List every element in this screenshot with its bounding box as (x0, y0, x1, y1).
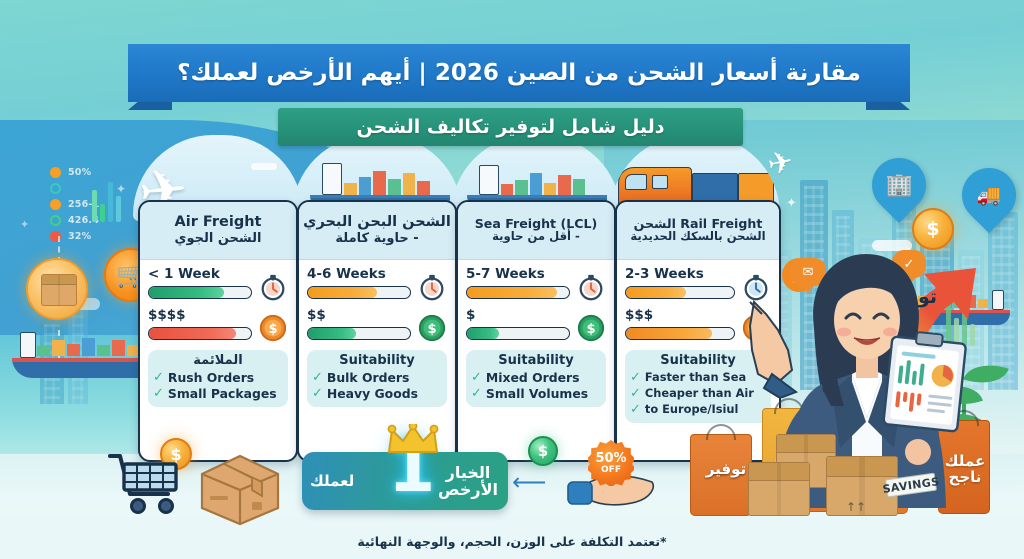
check-icon: ✓ (630, 386, 641, 402)
time-bar (307, 286, 411, 299)
suitability-item: ✓Rush Orders (153, 370, 283, 386)
discount-off-label: OFF (601, 466, 621, 475)
card-header: Rail Freight الشحن الشحن بالسكك الحديدية (617, 202, 779, 260)
suitability-item-label: Mixed Orders (486, 370, 580, 385)
suitability-item: ✓to Europe/Isiul (630, 402, 766, 418)
cost-bar (625, 327, 735, 340)
time-label: 4-6 Weeks (307, 268, 411, 282)
check-icon: ✓ (153, 370, 164, 386)
card-title-ar: - حاوية كاملة (335, 231, 418, 246)
suitability-item-label: Small Packages (168, 386, 277, 401)
dashed-connector (140, 428, 142, 450)
clipboard-chart-icon (881, 328, 969, 434)
footnote: *تعتمد التكلفة على الوزن، الحجم، والوجهة… (0, 534, 1024, 549)
card-title-en: Air Freight (175, 215, 262, 231)
card-title-ar: الشحن الجوي (175, 231, 262, 246)
card-title-ar: - أقل من حاوية (492, 230, 580, 244)
suitability-item-label: Faster than Sea (645, 371, 746, 385)
metric-cost: $ $ (466, 309, 606, 343)
stopwatch-icon (258, 272, 288, 302)
card-body: < 1 Week $ $$$$ الملائمة ✓Rush Orders (140, 260, 296, 413)
time-label: < 1 Week (148, 268, 252, 282)
suitability-item-label: Bulk Orders (327, 370, 409, 385)
stopwatch-icon (417, 272, 447, 302)
suitability-title: Suitability (312, 354, 442, 369)
card-header: Sea Freight (LCL) - أقل من حاوية (458, 202, 614, 260)
discount-percent: 50% (595, 452, 626, 465)
time-bar (625, 286, 735, 299)
suitability-item: ✓Heavy Goods (312, 386, 442, 402)
suitability-title: Suitability (471, 354, 601, 369)
metric-time: < 1 Week (148, 268, 288, 302)
infographic-canvas: 50% 256-1 426.4 32% 🛒 (0, 0, 1024, 559)
card-body: 4-6 Weeks $ $$ Suitability ✓Bulk Orders (299, 260, 455, 413)
page-title: مقارنة أسعار الشحن من الصين 2026 | أيهم … (177, 60, 861, 86)
carton-box (748, 462, 810, 516)
suitability-box: Suitability ✓Mixed Orders ✓Small Volumes (466, 350, 606, 407)
shopping-cart-icon (108, 450, 182, 514)
cost-label: $ (466, 309, 570, 323)
check-icon: ✓ (153, 386, 164, 402)
suitability-item: ✓Mixed Orders (471, 370, 601, 386)
metric-cost: $ $$$$ (148, 309, 288, 343)
time-label: 5-7 Weeks (466, 268, 570, 282)
card-air-freight[interactable]: Air Freight الشحن الجوي < 1 Week $ (138, 200, 298, 462)
page-title-banner: مقارنة أسعار الشحن من الصين 2026 | أيهم … (128, 44, 910, 102)
stopwatch-icon (576, 272, 606, 302)
check-icon: ✓ (312, 386, 323, 402)
best-choice-line1: الخيار (438, 464, 498, 481)
svg-text:$: $ (427, 322, 436, 337)
suitability-item: ✓Small Volumes (471, 386, 601, 402)
suitability-item: ✓Small Packages (153, 386, 283, 402)
cost-bar (148, 327, 252, 340)
bag-savings-mid-text: توفير (698, 460, 754, 478)
suitability-item-label: to Europe/Isiul (645, 403, 739, 417)
cost-label: $$$ (625, 309, 735, 323)
suitability-item-label: Small Volumes (486, 386, 588, 401)
cloud-icon (251, 163, 277, 170)
svg-text:$: $ (268, 322, 277, 337)
cost-label: $$ (307, 309, 411, 323)
green-coin-icon: $ (576, 313, 606, 343)
suitability-item-label: Rush Orders (168, 370, 254, 385)
metric-time: 5-7 Weeks (466, 268, 606, 302)
green-coin-icon: $ (417, 313, 447, 343)
metric-cost: $ $$ (307, 309, 447, 343)
bag-client-label: عملك ناجح (936, 454, 994, 486)
title-ribbon-group: مقارنة أسعار الشحن من الصين 2026 | أيهم … (0, 22, 1024, 127)
suitability-item: ✓Bulk Orders (312, 370, 442, 386)
card-title-en: Rail Freight الشحن (634, 217, 763, 231)
suitability-item-label: Heavy Goods (327, 386, 418, 401)
crown-icon (386, 424, 440, 460)
card-title-en: الشحن البحن البحري (303, 215, 451, 231)
check-icon: ✓ (471, 386, 482, 402)
best-choice-line2: الأرخص (438, 481, 498, 498)
suitability-title: الملائمة (153, 354, 283, 369)
page-subtitle: دليل شامل لتوفير تكاليف الشحن (356, 116, 664, 138)
orange-coin-icon: $ (258, 313, 288, 343)
dashed-connector (244, 426, 246, 450)
fragile-arrows-icon: ↑↑ (846, 500, 866, 514)
time-bar (466, 286, 570, 299)
metric-time: 4-6 Weeks (307, 268, 447, 302)
cost-bar (307, 327, 411, 340)
check-icon: ✓ (630, 370, 641, 386)
card-header: الشحن البحن البحري - حاوية كاملة (299, 202, 455, 260)
card-header: Air Freight الشحن الجوي (140, 202, 296, 260)
arrow-left-icon: ⟵ (512, 470, 546, 494)
parcel-box-icon (196, 452, 284, 526)
card-sea-freight-lcl[interactable]: Sea Freight (LCL) - أقل من حاوية 5-7 Wee… (456, 200, 616, 462)
check-icon: ✓ (312, 370, 323, 386)
best-choice-left-text: لعملك (310, 472, 354, 490)
card-body: 5-7 Weeks $ $ Suitability ✓Mixed Orders (458, 260, 614, 413)
time-label: 2-3 Weeks (625, 268, 735, 282)
card-title-ar: الشحن بالسكك الحديدية (630, 230, 765, 244)
suitability-box: الملائمة ✓Rush Orders ✓Small Packages (148, 350, 288, 407)
check-icon: ✓ (630, 402, 641, 418)
bag-client-line2: ناجح (936, 470, 994, 486)
svg-text:$: $ (586, 322, 595, 337)
cost-label: $$$$ (148, 309, 252, 323)
pointing-hand-icon (736, 288, 806, 398)
time-bar (148, 286, 252, 299)
card-sea-freight-fcl[interactable]: الشحن البحن البحري - حاوية كاملة 4-6 Wee… (297, 200, 457, 462)
green-dollar-coin-icon: $ (528, 436, 558, 466)
best-choice-right-text: الخيار الأرخص (438, 464, 498, 499)
cost-bar (466, 327, 570, 340)
check-icon: ✓ (471, 370, 482, 386)
page-subtitle-banner: دليل شامل لتوفير تكاليف الشحن (278, 108, 743, 146)
suitability-box: Suitability ✓Bulk Orders ✓Heavy Goods (307, 350, 447, 407)
